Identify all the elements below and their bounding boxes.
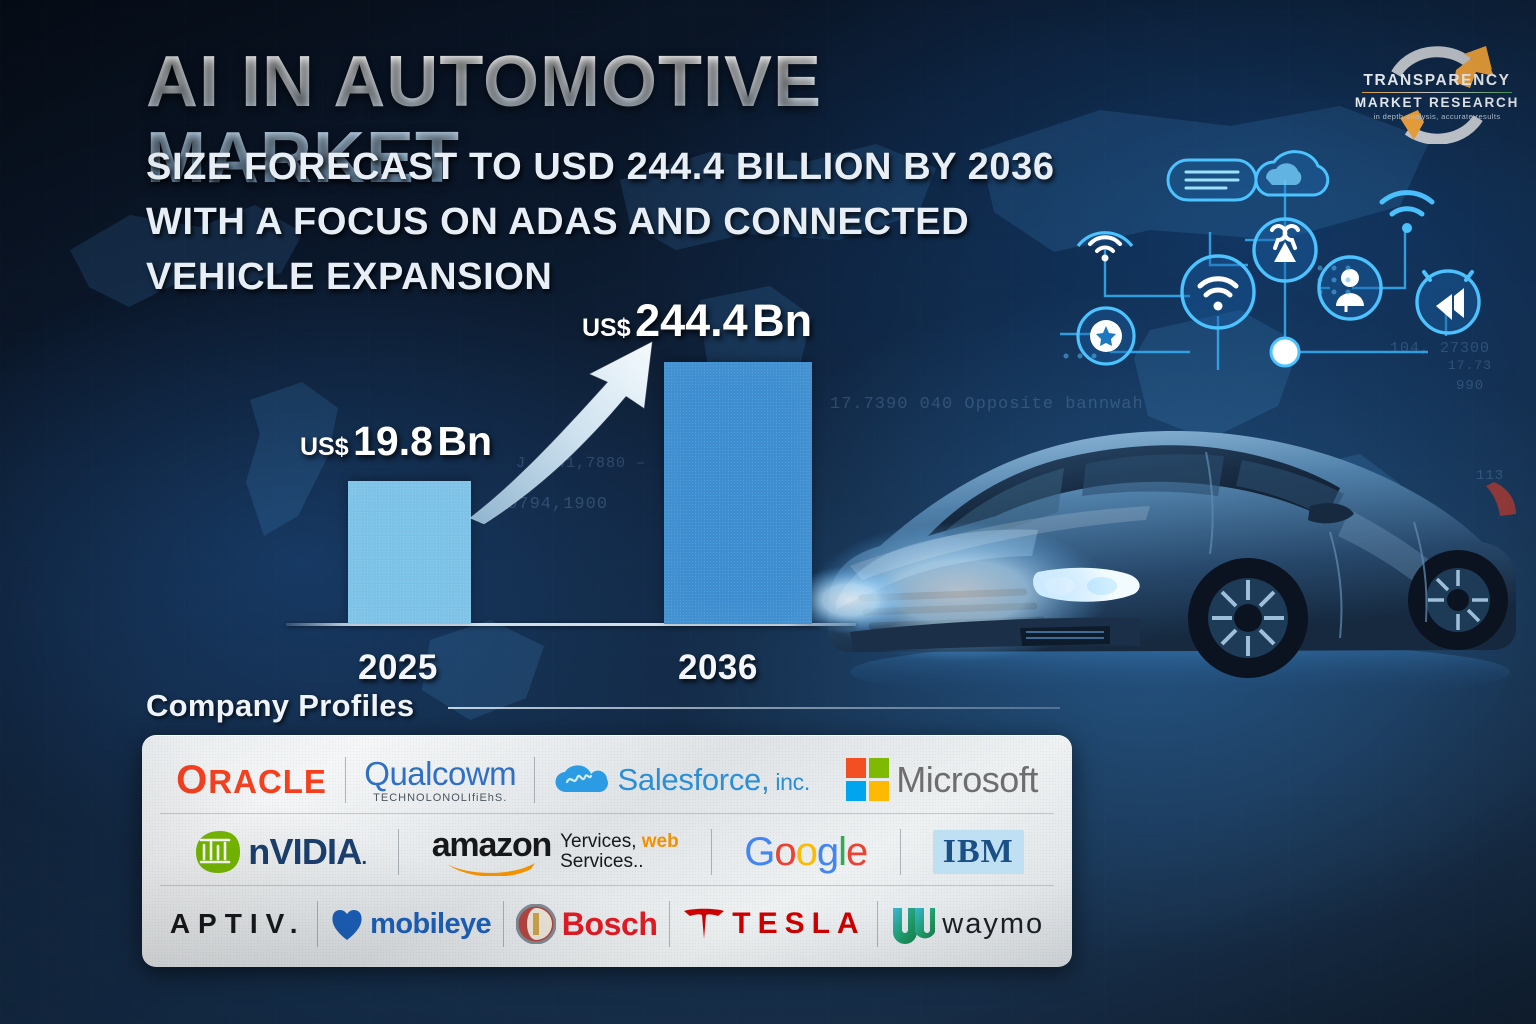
amazon-smile-icon — [443, 860, 539, 876]
logo-bosch[interactable]: Bosch — [504, 904, 669, 944]
subtitle-line-1: SIZE FORECAST TO USD 244.4 BILLION BY 20… — [146, 140, 1106, 195]
oracle-wordmark: ORACLE — [176, 758, 327, 803]
antenna-tower-icon — [1254, 219, 1316, 281]
logo-qualcomm[interactable]: Qualcowm TECHNOLONOLIfiEhS. — [346, 757, 534, 804]
logo-row-2: nVIDIA. amazon Yervices, web Services.. … — [158, 817, 1056, 887]
microsoft-squares-icon — [846, 758, 890, 802]
google-wordmark: Google — [744, 830, 867, 875]
microsoft-wordmark: Microsoft — [896, 759, 1038, 801]
company-logos-panel: ORACLE Qualcowm TECHNOLONOLIfiEhS. Sales… — [142, 735, 1072, 967]
company-profiles-heading: Company Profiles — [146, 688, 414, 724]
tmr-line-1: TRANSPARENCY — [1352, 72, 1522, 90]
nvidia-wordmark: nVIDIA. — [248, 831, 366, 873]
logo-tesla[interactable]: TESLA — [670, 907, 877, 941]
aws-subtext-line-2: Services.. — [560, 852, 679, 872]
subtitle-line-2: WITH A FOCUS ON ADAS AND CONNECTED — [146, 195, 1106, 250]
qualcomm-wordmark: Qualcowm TECHNOLONOLIfiEhS. — [364, 757, 516, 804]
dot-matrix — [1064, 266, 1351, 359]
aptiv-wordmark: APTIV. — [170, 908, 306, 940]
ibm-badge: IBM — [933, 830, 1024, 874]
aws-subtext-line-1: Yervices, web — [560, 832, 679, 852]
company-profiles-divider — [448, 707, 1060, 709]
tmr-line-2: MARKET RESEARCH — [1352, 95, 1522, 110]
row-divider-2 — [160, 885, 1054, 886]
qualcomm-name: Qualcowm — [364, 757, 516, 790]
salesforce-wordmark: Salesforce, inc. — [618, 762, 810, 798]
ticker-text-d: 104, 27300 — [1390, 340, 1490, 357]
qualcomm-subtext: TECHNOLONOLIfiEhS. — [373, 793, 507, 804]
tmr-wordmark: TRANSPARENCY MARKET RESEARCH in depth an… — [1352, 72, 1522, 121]
tmr-tagline: in depth analysis, accurate results — [1352, 112, 1522, 121]
logo-google[interactable]: Google — [712, 830, 900, 875]
logo-nvidia[interactable]: nVIDIA. — [158, 829, 398, 875]
infographic-canvas: 17.7390 040 Opposite bannwah J . 41,7880… — [0, 0, 1536, 1024]
waymo-w-icon — [890, 904, 936, 944]
logo-mobileye[interactable]: mobileye — [318, 906, 503, 942]
aws-subtext-group: Yervices, web Services.. — [560, 832, 679, 872]
logo-ibm[interactable]: IBM — [901, 830, 1057, 874]
chat-bubble-icon — [1168, 160, 1256, 200]
shield-star-icon — [1078, 308, 1134, 364]
page-subtitle: SIZE FORECAST TO USD 244.4 BILLION BY 20… — [146, 140, 1106, 305]
x-axis-label-2036: 2036 — [678, 648, 758, 688]
bosch-wordmark: Bosch — [562, 906, 658, 943]
user-profile-icon — [1319, 257, 1381, 319]
bar-2036 — [664, 362, 812, 624]
logo-waymo[interactable]: waymo — [878, 904, 1056, 944]
logo-row-1: ORACLE Qualcowm TECHNOLONOLIfiEhS. Sales… — [158, 745, 1056, 815]
wifi-icon — [1182, 256, 1254, 328]
logo-amazon-web-services[interactable]: amazon Yervices, web Services.. — [399, 828, 711, 876]
row-divider-1 — [160, 813, 1054, 814]
ibm-wordmark: IBM — [943, 833, 1014, 870]
waymo-wordmark: waymo — [942, 908, 1044, 941]
cloud-icon — [1256, 152, 1328, 195]
mobileye-heart-icon — [330, 906, 364, 942]
value-unit-2036: Bn — [752, 295, 812, 346]
bar-2025 — [348, 481, 471, 624]
logo-microsoft[interactable]: Microsoft — [828, 758, 1056, 802]
alarm-megaphone-icon — [1417, 271, 1479, 333]
x-axis-label-2025: 2025 — [358, 648, 438, 688]
bosch-armature-icon — [516, 904, 556, 944]
nvidia-eye-icon — [190, 829, 242, 875]
tmr-divider — [1362, 92, 1512, 93]
growth-arrow-icon — [462, 334, 682, 524]
logo-aptiv[interactable]: APTIV. — [158, 908, 317, 940]
logo-salesforce[interactable]: Salesforce, inc. — [535, 758, 828, 802]
amazon-wordmark: amazon — [432, 828, 551, 862]
wifi-right-icon — [1382, 193, 1432, 233]
salesforce-cloud-icon — [554, 758, 612, 802]
logo-oracle[interactable]: ORACLE — [158, 758, 345, 803]
market-size-bar-chart: 2025 2036 US$ 19.8 Bn US$ 244.4 Bn — [286, 300, 846, 650]
car-illustration — [810, 360, 1530, 700]
value-currency-2025: US$ — [300, 433, 349, 461]
mobileye-wordmark: mobileye — [370, 908, 491, 941]
amazon-wordmark-group: amazon — [432, 828, 551, 876]
transparency-market-research-logo: TRANSPARENCY MARKET RESEARCH in depth an… — [1352, 36, 1522, 144]
tesla-wordmark: TESLA — [732, 907, 865, 941]
logo-row-3: APTIV. mobileye Bosch — [158, 889, 1056, 959]
tesla-t-icon — [682, 907, 726, 941]
value-number-2025: 19.8 — [353, 418, 433, 464]
